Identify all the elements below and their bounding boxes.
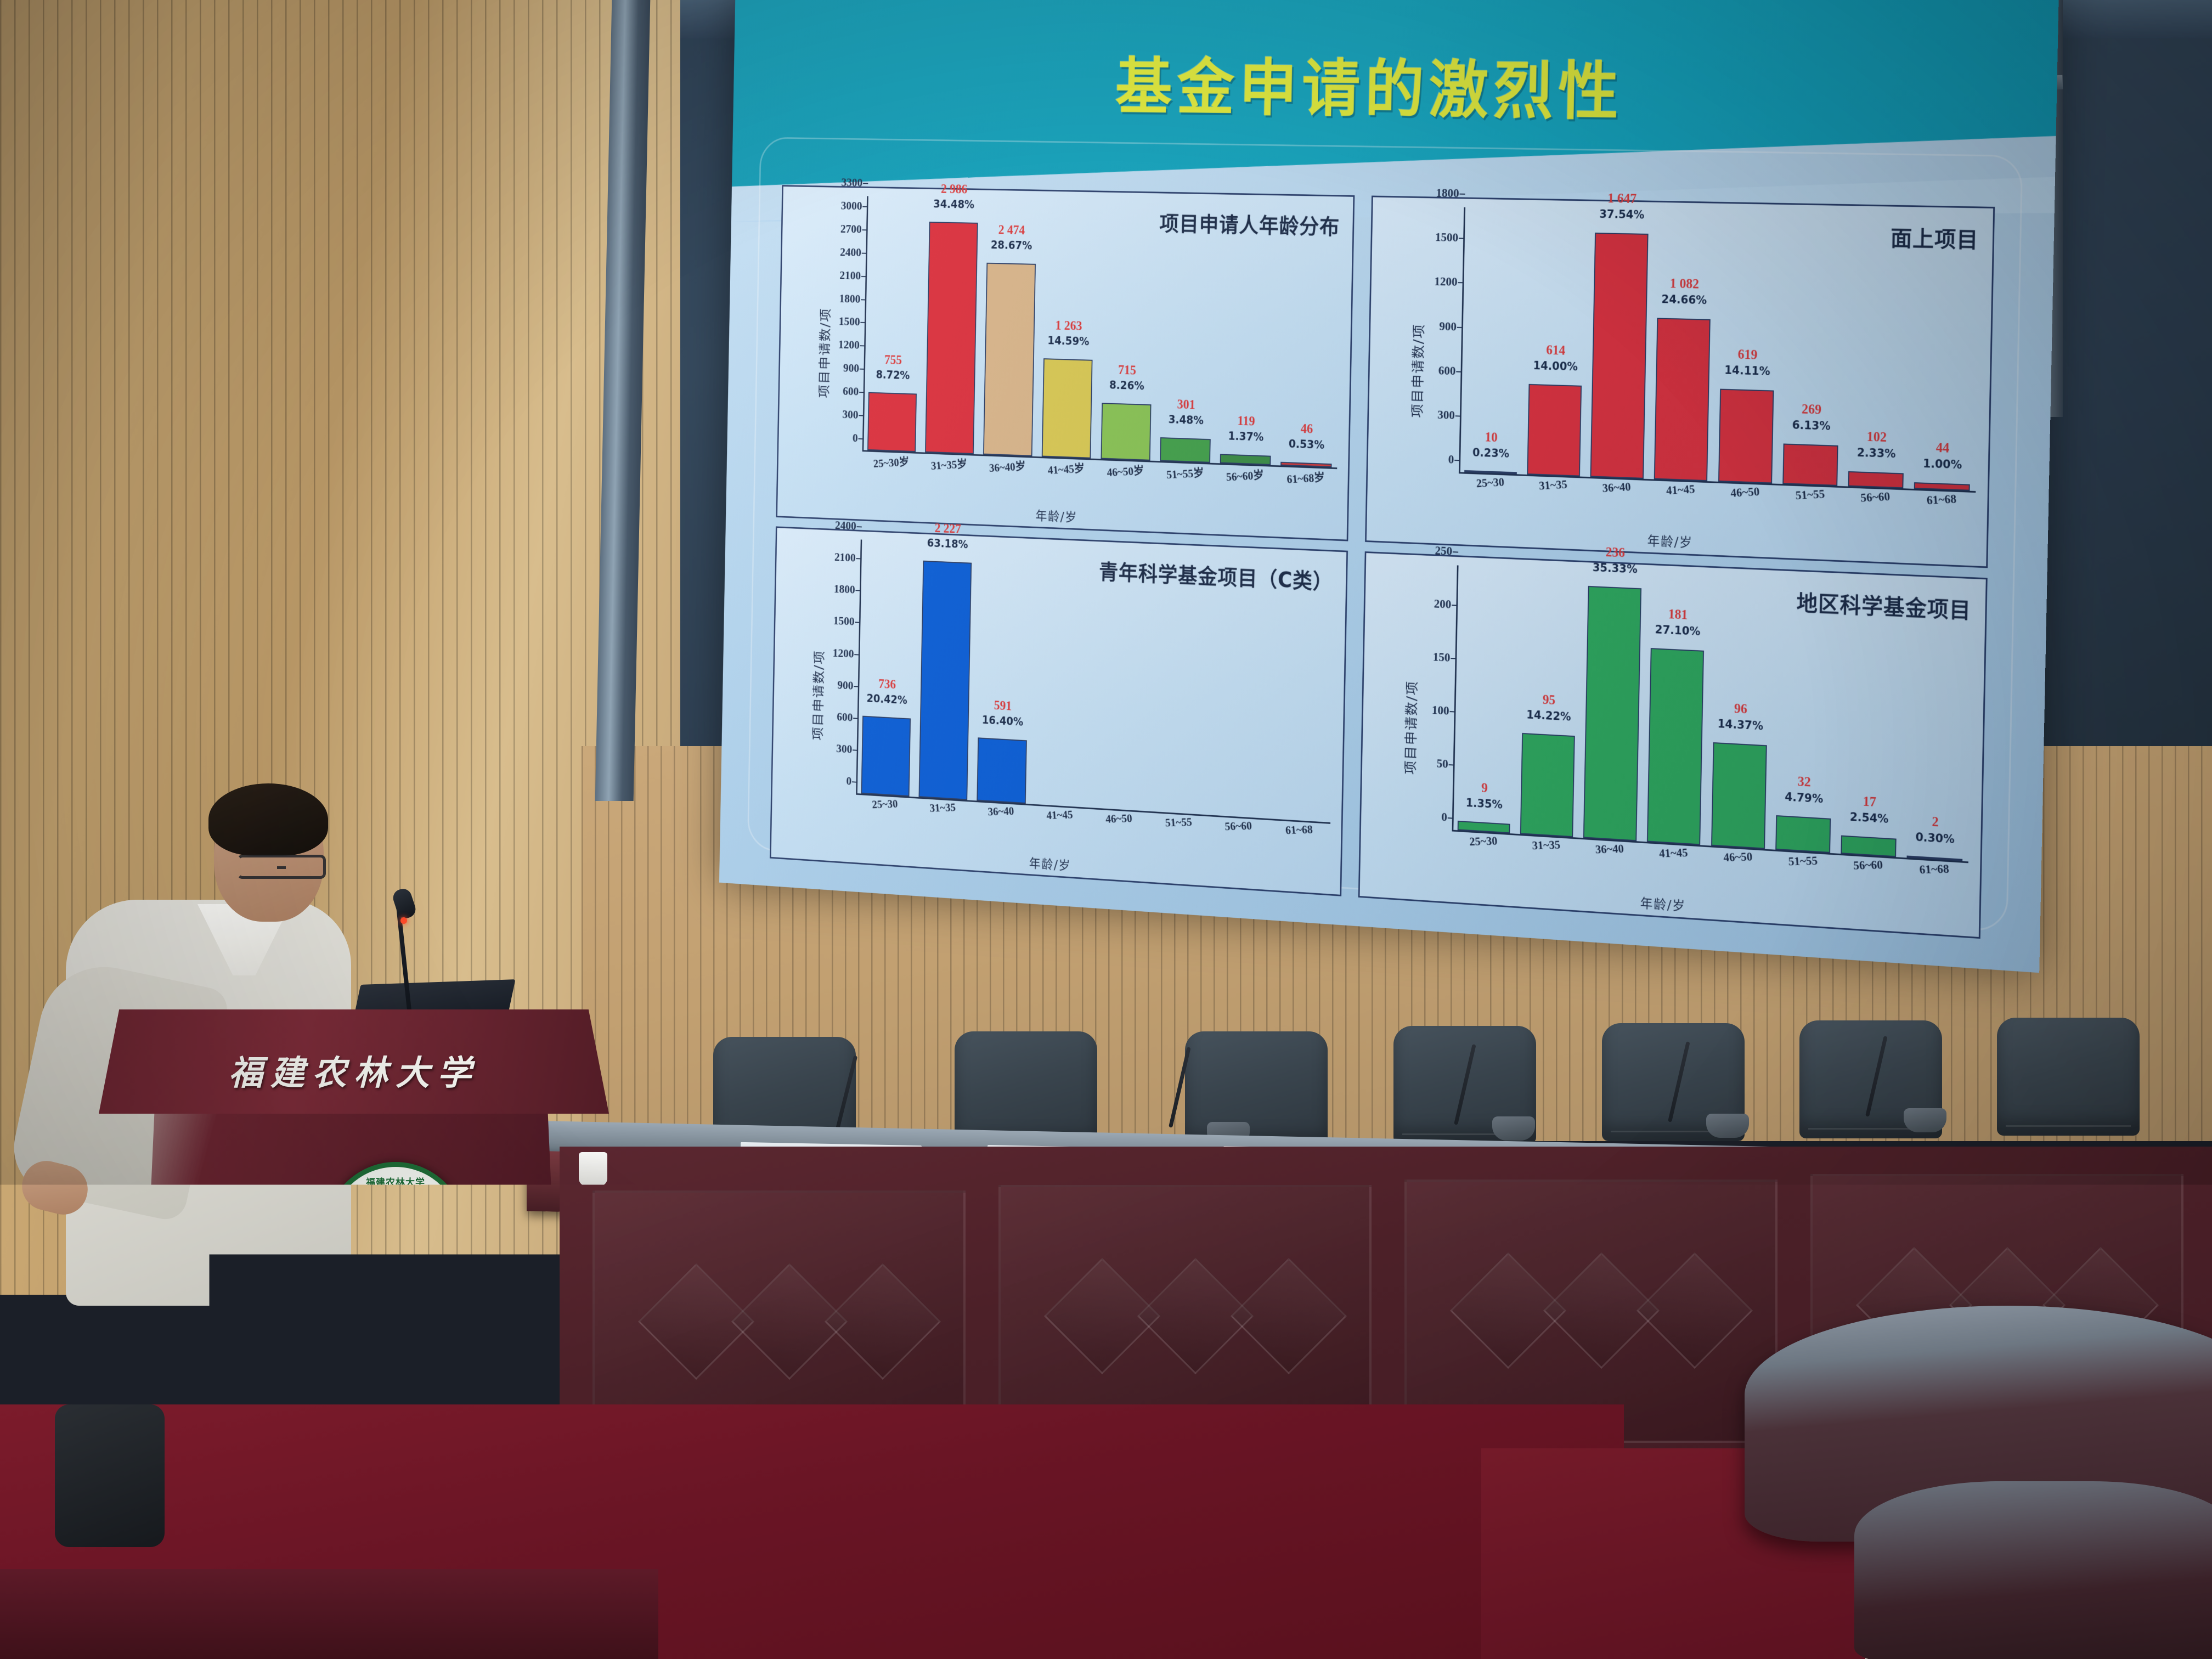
bar-column: 7158.26% xyxy=(1097,200,1159,460)
bar-series: 100.23%61414.00%1 64737.54%1 08224.66%61… xyxy=(1461,207,1979,491)
x-tick-label: 25~30 xyxy=(872,797,898,811)
bar xyxy=(1848,471,1904,488)
bar-column: 59116.40% xyxy=(973,545,1034,804)
x-tick-cell: 61~68 xyxy=(1270,821,1329,853)
y-tick-label: 2400 xyxy=(840,246,861,259)
bar xyxy=(1583,586,1641,841)
y-tick-label: 2100 xyxy=(839,269,861,283)
x-tick-cell: 56~60 xyxy=(1844,489,1907,521)
bar-column: 91.35% xyxy=(1454,566,1519,834)
y-axis-ticks: 0300600900120015001800210024002700300033… xyxy=(826,195,867,452)
lecture-hall-scene: 基金申请的激烈性 项目申请人年龄分布 项目申请数/项 年龄/岁 03006009… xyxy=(0,0,2212,1659)
x-tick-cell: 31~35岁 xyxy=(921,455,977,484)
x-tick-cell: 41~45 xyxy=(1031,806,1088,838)
bar-column: 9514.22% xyxy=(1516,568,1582,838)
table-microphone-base-3 xyxy=(1492,1116,1535,1141)
y-tick-label: 300 xyxy=(1437,408,1455,422)
bar-percent-label: 35.33% xyxy=(1584,562,1645,575)
x-tick-label: 46~50 xyxy=(1730,484,1759,500)
y-tick-label: 300 xyxy=(842,408,858,422)
bar xyxy=(1718,389,1774,483)
slide-title: 基金申请的激烈性 xyxy=(733,34,2058,137)
bar-percent-label: 2.33% xyxy=(1845,447,1908,460)
x-tick-cell: 25~30岁 xyxy=(864,453,919,482)
bar xyxy=(1841,835,1897,857)
bar-value-label: 1 082 xyxy=(1654,276,1715,291)
chart-age-distribution-all: 项目申请人年龄分布 项目申请数/项 年龄/岁 03006009001200150… xyxy=(776,185,1355,541)
bar-column: 172.54% xyxy=(1837,582,1905,857)
bar-percent-label: 14.22% xyxy=(1519,709,1579,723)
y-tick-label: 1500 xyxy=(1435,230,1459,245)
bar-column: 2 98634.48% xyxy=(922,198,981,455)
bar-percent-label: 0.53% xyxy=(1277,438,1335,452)
y-axis-ticks: 0300600900120015001800 xyxy=(1420,206,1464,473)
bar-column: 2 22763.18% xyxy=(915,542,975,800)
y-tick-label: 2700 xyxy=(840,222,862,236)
bar-percent-label: 8.72% xyxy=(865,369,920,382)
chart-regional-science-fund: 地区科学基金项目 项目申请数/项 年龄/岁 050100150200250 91… xyxy=(1358,551,1988,939)
x-tick-label: 36~40 xyxy=(1595,842,1624,856)
bar xyxy=(861,716,911,797)
x-tick-cell: 51~55 xyxy=(1771,852,1834,885)
projection-screen: 基金申请的激烈性 项目申请人年龄分布 项目申请数/项 年龄/岁 03006009… xyxy=(719,0,2059,973)
bar-value-label: 619 xyxy=(1717,347,1779,363)
bar-column xyxy=(1091,550,1152,811)
bar xyxy=(1042,358,1093,459)
x-tick-label: 41~45岁 xyxy=(1047,459,1085,478)
y-tick-label: 600 xyxy=(1438,364,1456,378)
x-tick-label: 41~45 xyxy=(1046,808,1073,822)
bar-value-label: 2 986 xyxy=(927,182,982,196)
leaf-icon xyxy=(382,1206,409,1256)
y-axis-ticks: 050100150200250 xyxy=(1413,563,1457,831)
x-tick-cell: 46~50 xyxy=(1714,484,1776,515)
x-tick-label: 46~50岁 xyxy=(1106,461,1144,480)
bar-column: 61914.11% xyxy=(1714,212,1781,484)
y-tick-label: 1800 xyxy=(1436,186,1459,200)
x-tick-label: 31~35岁 xyxy=(930,455,968,473)
y-tick-label: 0 xyxy=(1448,453,1454,466)
y-tick-label: 900 xyxy=(1439,319,1457,334)
bar xyxy=(867,392,917,452)
table-microphone-base-5 xyxy=(1904,1108,1946,1132)
x-tick-cell: 61~68 xyxy=(1910,492,1973,523)
round-meeting-table-lower xyxy=(1854,1481,2212,1659)
charts-grid: 项目申请人年龄分布 项目申请数/项 年龄/岁 03006009001200150… xyxy=(770,185,1995,939)
x-tick-label: 51~55 xyxy=(1788,854,1818,868)
x-tick-cell: 36~40 xyxy=(973,803,1029,834)
bar-value-label: 2 xyxy=(1904,814,1967,831)
y-tick-label: 600 xyxy=(843,385,859,398)
y-tick-label: 0 xyxy=(846,775,851,788)
x-tick-label: 61~68 xyxy=(1919,862,1950,877)
y-tick-label: 250 xyxy=(1435,544,1452,558)
bar-percent-label: 20.42% xyxy=(860,693,915,707)
x-tick-cell: 61~68岁 xyxy=(1277,468,1335,498)
bar-series: 7558.72%2 98634.48%2 47428.67%1 26314.59… xyxy=(864,196,1340,468)
bar-value-label: 181 xyxy=(1647,606,1709,622)
bar-column xyxy=(1032,547,1093,808)
y-tick-label: 1200 xyxy=(838,338,860,352)
bar xyxy=(1520,733,1575,837)
bar-percent-label: 24.66% xyxy=(1654,294,1715,307)
x-tick-label: 56~60 xyxy=(1224,819,1252,833)
bar-column: 23635.33% xyxy=(1579,571,1645,842)
logo-emblem xyxy=(354,1193,437,1275)
bar-percent-label: 14.11% xyxy=(1717,365,1779,378)
y-tick-label: 1800 xyxy=(834,583,855,597)
chart-general-program: 面上项目 项目申请数/项 年龄/岁 0300600900120015001800… xyxy=(1365,196,1995,568)
bar-value-label: 9 xyxy=(1455,780,1515,797)
y-tick-label: 1500 xyxy=(839,315,860,329)
x-tick-label: 31~35 xyxy=(929,800,956,815)
bar xyxy=(1590,233,1648,479)
paper-cup xyxy=(579,1152,607,1186)
bar xyxy=(1711,742,1767,849)
x-tick-label: 25~30 xyxy=(1469,834,1498,849)
x-tick-cell: 56~60 xyxy=(1837,856,1900,889)
bar-percent-label: 16.40% xyxy=(975,714,1031,728)
x-tick-label: 41~45 xyxy=(1666,482,1695,498)
y-tick-label: 50 xyxy=(1436,757,1448,771)
y-tick-label: 900 xyxy=(837,678,853,692)
bar-column: 441.00% xyxy=(1910,216,1979,491)
x-tick-cell: 25~30 xyxy=(1453,833,1513,865)
bar-value-label: 1 263 xyxy=(1041,319,1097,333)
bar-column: 1 26314.59% xyxy=(1038,199,1099,458)
panel-diamond xyxy=(1231,1258,1347,1374)
chart-young-scientists-fund-c: 青年科学基金项目（C类） 项目申请数/项 年龄/岁 03006009001200… xyxy=(770,526,1348,896)
y-tick-label: 3000 xyxy=(841,199,862,213)
x-tick-label: 61~68岁 xyxy=(1286,468,1325,487)
x-tick-label: 51~55 xyxy=(1795,487,1825,503)
bar-column: 460.53% xyxy=(1277,204,1340,467)
y-tick-label: 2100 xyxy=(834,551,856,565)
university-logo: 福建农林大学 FUJIAN AGRICULTURE AND FORESTRY U… xyxy=(325,1162,466,1306)
y-tick-label: 1500 xyxy=(833,614,855,629)
x-tick-cell: 31~35 xyxy=(1523,477,1583,508)
bar xyxy=(1647,648,1705,845)
bar-column: 2 47428.67% xyxy=(980,198,1040,456)
bar-column xyxy=(1210,555,1273,819)
bar-value-label: 715 xyxy=(1099,363,1156,378)
bar-column: 1 64737.54% xyxy=(1587,210,1652,479)
plot-area: 030060090012001500180021002400 73620.42%… xyxy=(823,538,1335,853)
x-tick-label: 56~60 xyxy=(1860,489,1891,505)
floor-cables xyxy=(433,1317,571,1514)
presentation-slide: 基金申请的激烈性 项目申请人年龄分布 项目申请数/项 年龄/岁 03006009… xyxy=(719,0,2059,973)
bar-column: 2696.13% xyxy=(1779,213,1847,486)
x-tick-cell: 61~68 xyxy=(1903,860,1966,894)
microphone-status-led xyxy=(400,917,407,924)
bar-percent-label: 14.00% xyxy=(1525,360,1585,373)
x-tick-cell: 31~35 xyxy=(1516,837,1576,869)
x-tick-cell: 36~40 xyxy=(1586,479,1647,511)
chair-3 xyxy=(1185,1031,1328,1149)
bar-column: 20.30% xyxy=(1903,585,1972,861)
podium-university-name: 福建农林大学 xyxy=(99,1045,609,1094)
bar-percent-label: 27.10% xyxy=(1647,624,1708,638)
bar-column: 3013.48% xyxy=(1156,202,1218,463)
x-tick-label: 31~35 xyxy=(1539,477,1568,493)
x-tick-label: 36~40岁 xyxy=(989,457,1026,476)
bar-column: 18127.10% xyxy=(1643,574,1709,845)
bar-column: 1 08224.66% xyxy=(1650,211,1717,481)
logo-chinese-name: 福建农林大学 xyxy=(330,1175,461,1188)
x-tick-cell: 41~45 xyxy=(1643,844,1704,877)
bar xyxy=(925,222,978,454)
x-tick-label: 56~60 xyxy=(1853,857,1883,872)
bar xyxy=(1783,443,1838,486)
bar-value-label: 736 xyxy=(860,676,915,692)
bar-percent-label: 2.54% xyxy=(1838,811,1901,826)
bar-column: 1022.33% xyxy=(1844,215,1912,489)
bar xyxy=(1654,318,1711,482)
bar-percent-label: 1.37% xyxy=(1217,431,1274,444)
x-tick-label: 61~68 xyxy=(1926,492,1957,507)
table-microphone-base-4 xyxy=(1706,1114,1749,1138)
bar-column: 61414.00% xyxy=(1523,208,1589,477)
plot-area: 0300600900120015001800 100.23%61414.00%1… xyxy=(1423,207,1981,523)
y-tick-label: 2400 xyxy=(835,519,856,533)
y-tick-label: 1800 xyxy=(839,292,860,306)
x-tick-cell: 46~50 xyxy=(1707,848,1769,881)
bar-series: 73620.42%2 22763.18%59116.40% xyxy=(858,540,1334,822)
bar-column: 100.23% xyxy=(1461,207,1526,475)
bar-value-label: 96 xyxy=(1710,701,1772,718)
bar-value-label: 614 xyxy=(1526,343,1586,358)
x-tick-cell: 25~30 xyxy=(1460,475,1520,505)
bar xyxy=(1527,384,1581,477)
y-tick-label: 100 xyxy=(1432,703,1449,718)
bar-column: 9614.37% xyxy=(1707,577,1774,849)
y-axis-ticks: 030060090012001500180021002400 xyxy=(820,538,861,795)
bar-value-label: 755 xyxy=(866,353,921,368)
x-tick-label: 51~55 xyxy=(1165,815,1192,830)
x-tick-label: 56~60岁 xyxy=(1226,466,1265,484)
bar-value-label: 95 xyxy=(1519,692,1579,709)
x-tick-cell: 51~55岁 xyxy=(1156,464,1214,494)
bar-value-label: 2 227 xyxy=(920,521,975,536)
y-tick-label: 900 xyxy=(843,362,859,375)
bar-percent-label: 37.54% xyxy=(1592,208,1652,221)
y-tick-label: 150 xyxy=(1433,650,1451,665)
plot-area: 050100150200250 91.35%9514.22%23635.33%1… xyxy=(1417,564,1974,894)
bar-value-label: 44 xyxy=(1911,440,1974,456)
bar-percent-label: 0.23% xyxy=(1461,447,1521,460)
bar-value-label: 591 xyxy=(975,698,1031,714)
x-tick-label: 36~40 xyxy=(1602,479,1631,495)
panel-diamond xyxy=(825,1263,941,1380)
panel-diamond xyxy=(1637,1252,1753,1369)
bar-value-label: 301 xyxy=(1158,398,1215,413)
bar-column xyxy=(1271,557,1334,822)
y-tick-label: 600 xyxy=(837,710,853,724)
bar-percent-label: 3.48% xyxy=(1158,414,1215,427)
x-tick-cell: 36~40岁 xyxy=(979,457,1035,487)
x-tick-cell: 25~30 xyxy=(857,796,913,827)
bar xyxy=(983,262,1036,456)
logo-english-name: FUJIAN AGRICULTURE AND FORESTRY UNIVERSI… xyxy=(330,1283,461,1295)
bar xyxy=(1160,437,1211,462)
y-tick-label: 200 xyxy=(1434,597,1451,611)
x-tick-cell: 41~45岁 xyxy=(1037,459,1094,489)
bar-percent-label: 34.48% xyxy=(926,199,981,210)
bar-value-label: 17 xyxy=(1838,793,1901,810)
bar-percent-label: 14.59% xyxy=(1040,335,1097,348)
y-tick-label: 300 xyxy=(836,742,852,756)
y-tick-label: 0 xyxy=(1441,810,1447,825)
x-tick-label: 25~30岁 xyxy=(873,453,910,471)
bar-column: 1191.37% xyxy=(1217,203,1279,465)
x-tick-cell: 56~60 xyxy=(1210,817,1268,849)
y-tick-label: 3300 xyxy=(841,176,862,190)
bar-percent-label: 28.67% xyxy=(984,240,1040,252)
x-tick-label: 51~55岁 xyxy=(1166,464,1204,482)
speaker-hair xyxy=(208,783,328,856)
y-tick-label: 1200 xyxy=(1434,275,1458,289)
bar-percent-label: 1.35% xyxy=(1454,797,1514,811)
x-tick-cell: 46~50 xyxy=(1090,810,1147,842)
bar-column: 73620.42% xyxy=(858,540,917,797)
x-tick-cell: 31~35 xyxy=(915,799,970,830)
bar-value-label: 2 474 xyxy=(984,223,1040,237)
bar-percent-label: 6.13% xyxy=(1780,419,1843,432)
bar-percent-label: 0.30% xyxy=(1903,831,1967,847)
bar xyxy=(1220,454,1271,465)
bar-value-label: 102 xyxy=(1846,429,1909,445)
x-tick-cell: 51~55 xyxy=(1149,814,1207,845)
bar-series: 91.35%9514.22%23635.33%18127.10%9614.37%… xyxy=(1454,566,1972,861)
y-tick-label: 1200 xyxy=(833,646,854,661)
chair-7 xyxy=(1997,1018,2140,1136)
x-tick-cell: 56~60岁 xyxy=(1216,466,1274,496)
bar-value-label: 236 xyxy=(1585,545,1646,561)
bar xyxy=(1101,403,1152,460)
x-tick-cell: 51~55 xyxy=(1779,487,1841,518)
x-tick-cell: 46~50岁 xyxy=(1097,461,1154,492)
bar-percent-label: 4.79% xyxy=(1773,791,1836,805)
bar-value-label: 119 xyxy=(1217,414,1275,428)
x-tick-cell: 36~40 xyxy=(1579,840,1640,873)
bar-column: 7558.72% xyxy=(864,196,923,453)
x-tick-label: 41~45 xyxy=(1658,845,1688,860)
bar xyxy=(977,738,1026,804)
bar-value-label: 269 xyxy=(1780,402,1843,417)
bar-value-label: 46 xyxy=(1278,421,1336,436)
bar-value-label: 1 647 xyxy=(1592,191,1652,206)
y-tick-label: 0 xyxy=(853,432,858,445)
plot-area: 0300600900120015001800210024002700300033… xyxy=(830,195,1342,498)
x-tick-label: 61~68 xyxy=(1285,822,1313,837)
stage-panel-3 xyxy=(1404,1180,1778,1443)
x-tick-label: 46~50 xyxy=(1105,811,1132,826)
bar-column xyxy=(1150,552,1212,815)
bar-percent-label: 8.26% xyxy=(1098,380,1155,392)
bar xyxy=(918,561,971,800)
bar-column: 324.79% xyxy=(1772,579,1839,854)
bar xyxy=(1776,815,1831,853)
bar-percent-label: 63.18% xyxy=(920,538,975,551)
bar-percent-label: 1.00% xyxy=(1911,458,1974,471)
x-tick-label: 36~40 xyxy=(988,804,1014,819)
bar-value-label: 10 xyxy=(1462,430,1521,445)
x-tick-label: 46~50 xyxy=(1723,850,1752,865)
glasses-icon xyxy=(237,855,326,879)
x-tick-label: 31~35 xyxy=(1532,838,1561,853)
x-tick-label: 25~30 xyxy=(1476,475,1505,490)
bar-value-label: 32 xyxy=(1773,774,1836,791)
bar-percent-label: 14.37% xyxy=(1709,718,1771,733)
x-tick-cell: 41~45 xyxy=(1650,482,1711,513)
